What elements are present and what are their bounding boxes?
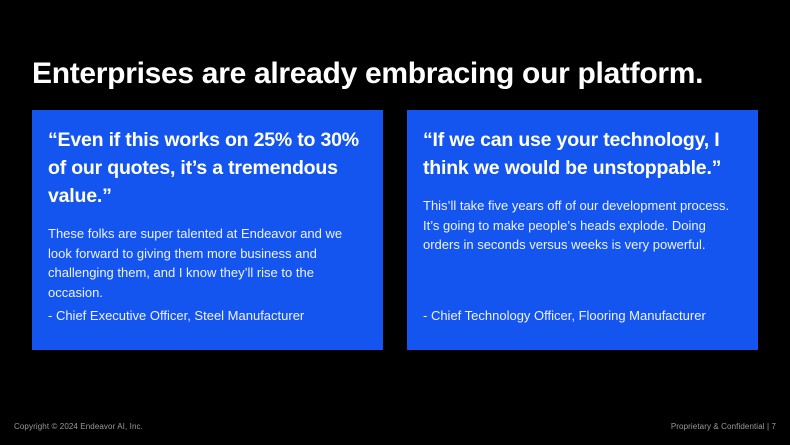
quote-headline: “If we can use your technology, I think … bbox=[423, 126, 742, 182]
presentation-slide: Enterprises are already embracing our pl… bbox=[0, 0, 790, 445]
quote-headline: “Even if this works on 25% to 30% of our… bbox=[48, 126, 367, 210]
quote-attribution: - Chief Technology Officer, Flooring Man… bbox=[423, 307, 706, 325]
quote-card-right: “If we can use your technology, I think … bbox=[407, 110, 758, 350]
footer-copyright: Copyright © 2024 Endeavor AI, Inc. bbox=[14, 422, 143, 431]
quote-card-left: “Even if this works on 25% to 30% of our… bbox=[32, 110, 383, 350]
page-title: Enterprises are already embracing our pl… bbox=[32, 57, 703, 91]
quote-card-group: “Even if this works on 25% to 30% of our… bbox=[32, 110, 758, 350]
quote-body: These folks are super talented at Endeav… bbox=[48, 224, 367, 302]
quote-body: This’ll take five years off of our devel… bbox=[423, 196, 742, 255]
footer-classification: Proprietary & Confidential | 7 bbox=[671, 422, 776, 431]
quote-attribution: - Chief Executive Officer, Steel Manufac… bbox=[48, 307, 304, 325]
